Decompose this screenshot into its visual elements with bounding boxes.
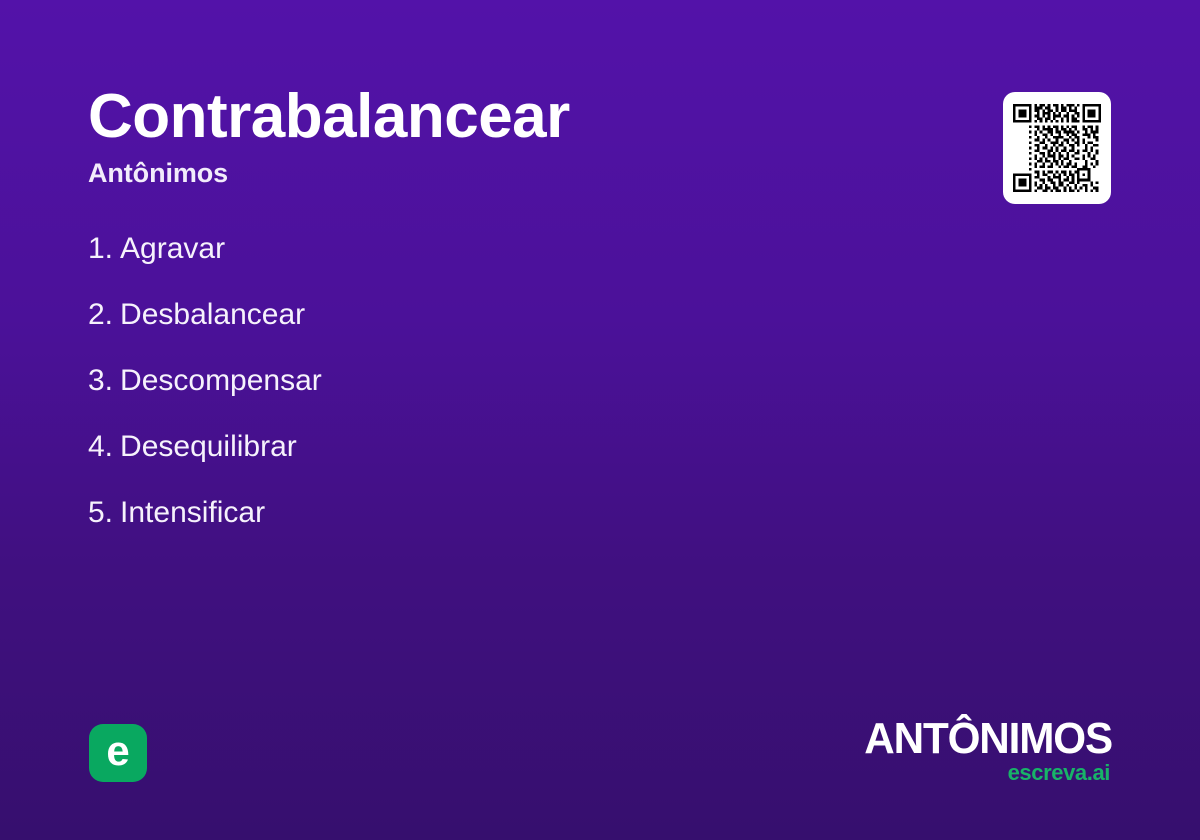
footer-logo-domain: escreva.ai (782, 762, 1110, 784)
list-item-number: 2. (88, 298, 113, 331)
list-item-label: Desbalancear (120, 298, 305, 331)
footer-logo[interactable]: ANTÔNIMOS escreva.ai (782, 718, 1112, 784)
list-item-number: 3. (88, 364, 113, 397)
footer-logo-title: ANTÔNIMOS (795, 718, 1112, 760)
qr-code[interactable] (1003, 92, 1111, 204)
list-item-label: Desequilibrar (120, 430, 297, 463)
antonyms-list: 1.Agravar 2.Desbalancear 3.Descompensar … (88, 234, 908, 528)
list-item-number: 4. (88, 430, 113, 463)
brand-badge-letter: e (106, 730, 129, 772)
list-item: 1.Agravar (88, 234, 908, 264)
list-item: 2.Desbalancear (88, 300, 908, 330)
list-item-label: Descompensar (120, 364, 322, 397)
qr-code-icon (1013, 104, 1101, 192)
list-item-label: Agravar (120, 232, 225, 265)
list-item-number: 1. (88, 232, 113, 265)
page-title: Contrabalancear (88, 84, 948, 149)
list-item: 4.Desequilibrar (88, 432, 908, 462)
escreva-logo-badge[interactable]: e (89, 724, 147, 782)
header: Contrabalancear Antônimos (88, 84, 948, 189)
page-subtitle: Antônimos (88, 159, 948, 189)
list-item: 3.Descompensar (88, 366, 908, 396)
list-item-label: Intensificar (120, 496, 265, 529)
list-item-number: 5. (88, 496, 113, 529)
list-item: 5.Intensificar (88, 498, 908, 528)
antonyms-card: Contrabalancear Antônimos (0, 0, 1200, 840)
